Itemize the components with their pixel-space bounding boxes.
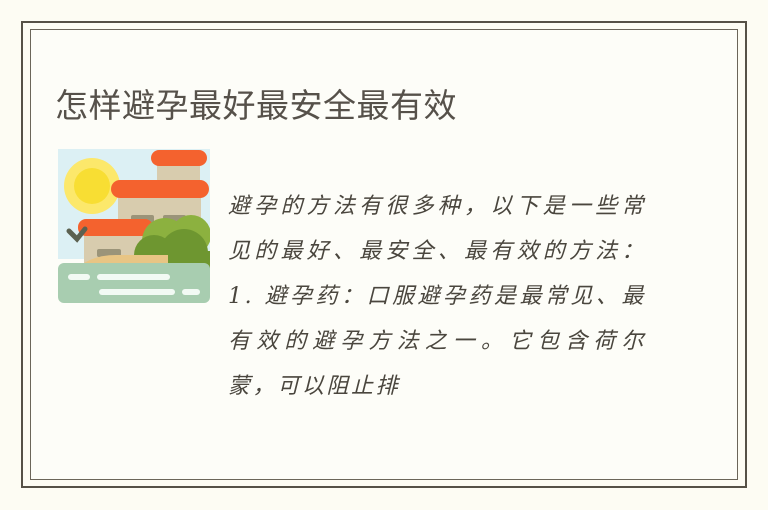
building-back-roof bbox=[151, 150, 207, 166]
illustration-svg bbox=[58, 143, 210, 303]
article-body: 避孕的方法有很多种，以下是一些常见的最好、最安全、最有效的方法：1. 避孕药：口… bbox=[228, 184, 646, 409]
foam-line-4 bbox=[182, 289, 200, 295]
sun-core-icon bbox=[74, 168, 110, 204]
building-front-roof bbox=[78, 219, 153, 236]
foam-line-2 bbox=[97, 274, 170, 280]
foam-line-1 bbox=[68, 274, 90, 280]
page-title: 怎样避孕最好最安全最有效 bbox=[55, 84, 457, 128]
page-root: 怎样避孕最好最安全最有效 bbox=[0, 0, 768, 510]
foam-line-3 bbox=[99, 289, 175, 295]
seaside-village-illustration bbox=[58, 143, 210, 303]
building-main-roof bbox=[111, 180, 209, 198]
water-shape bbox=[58, 263, 210, 303]
